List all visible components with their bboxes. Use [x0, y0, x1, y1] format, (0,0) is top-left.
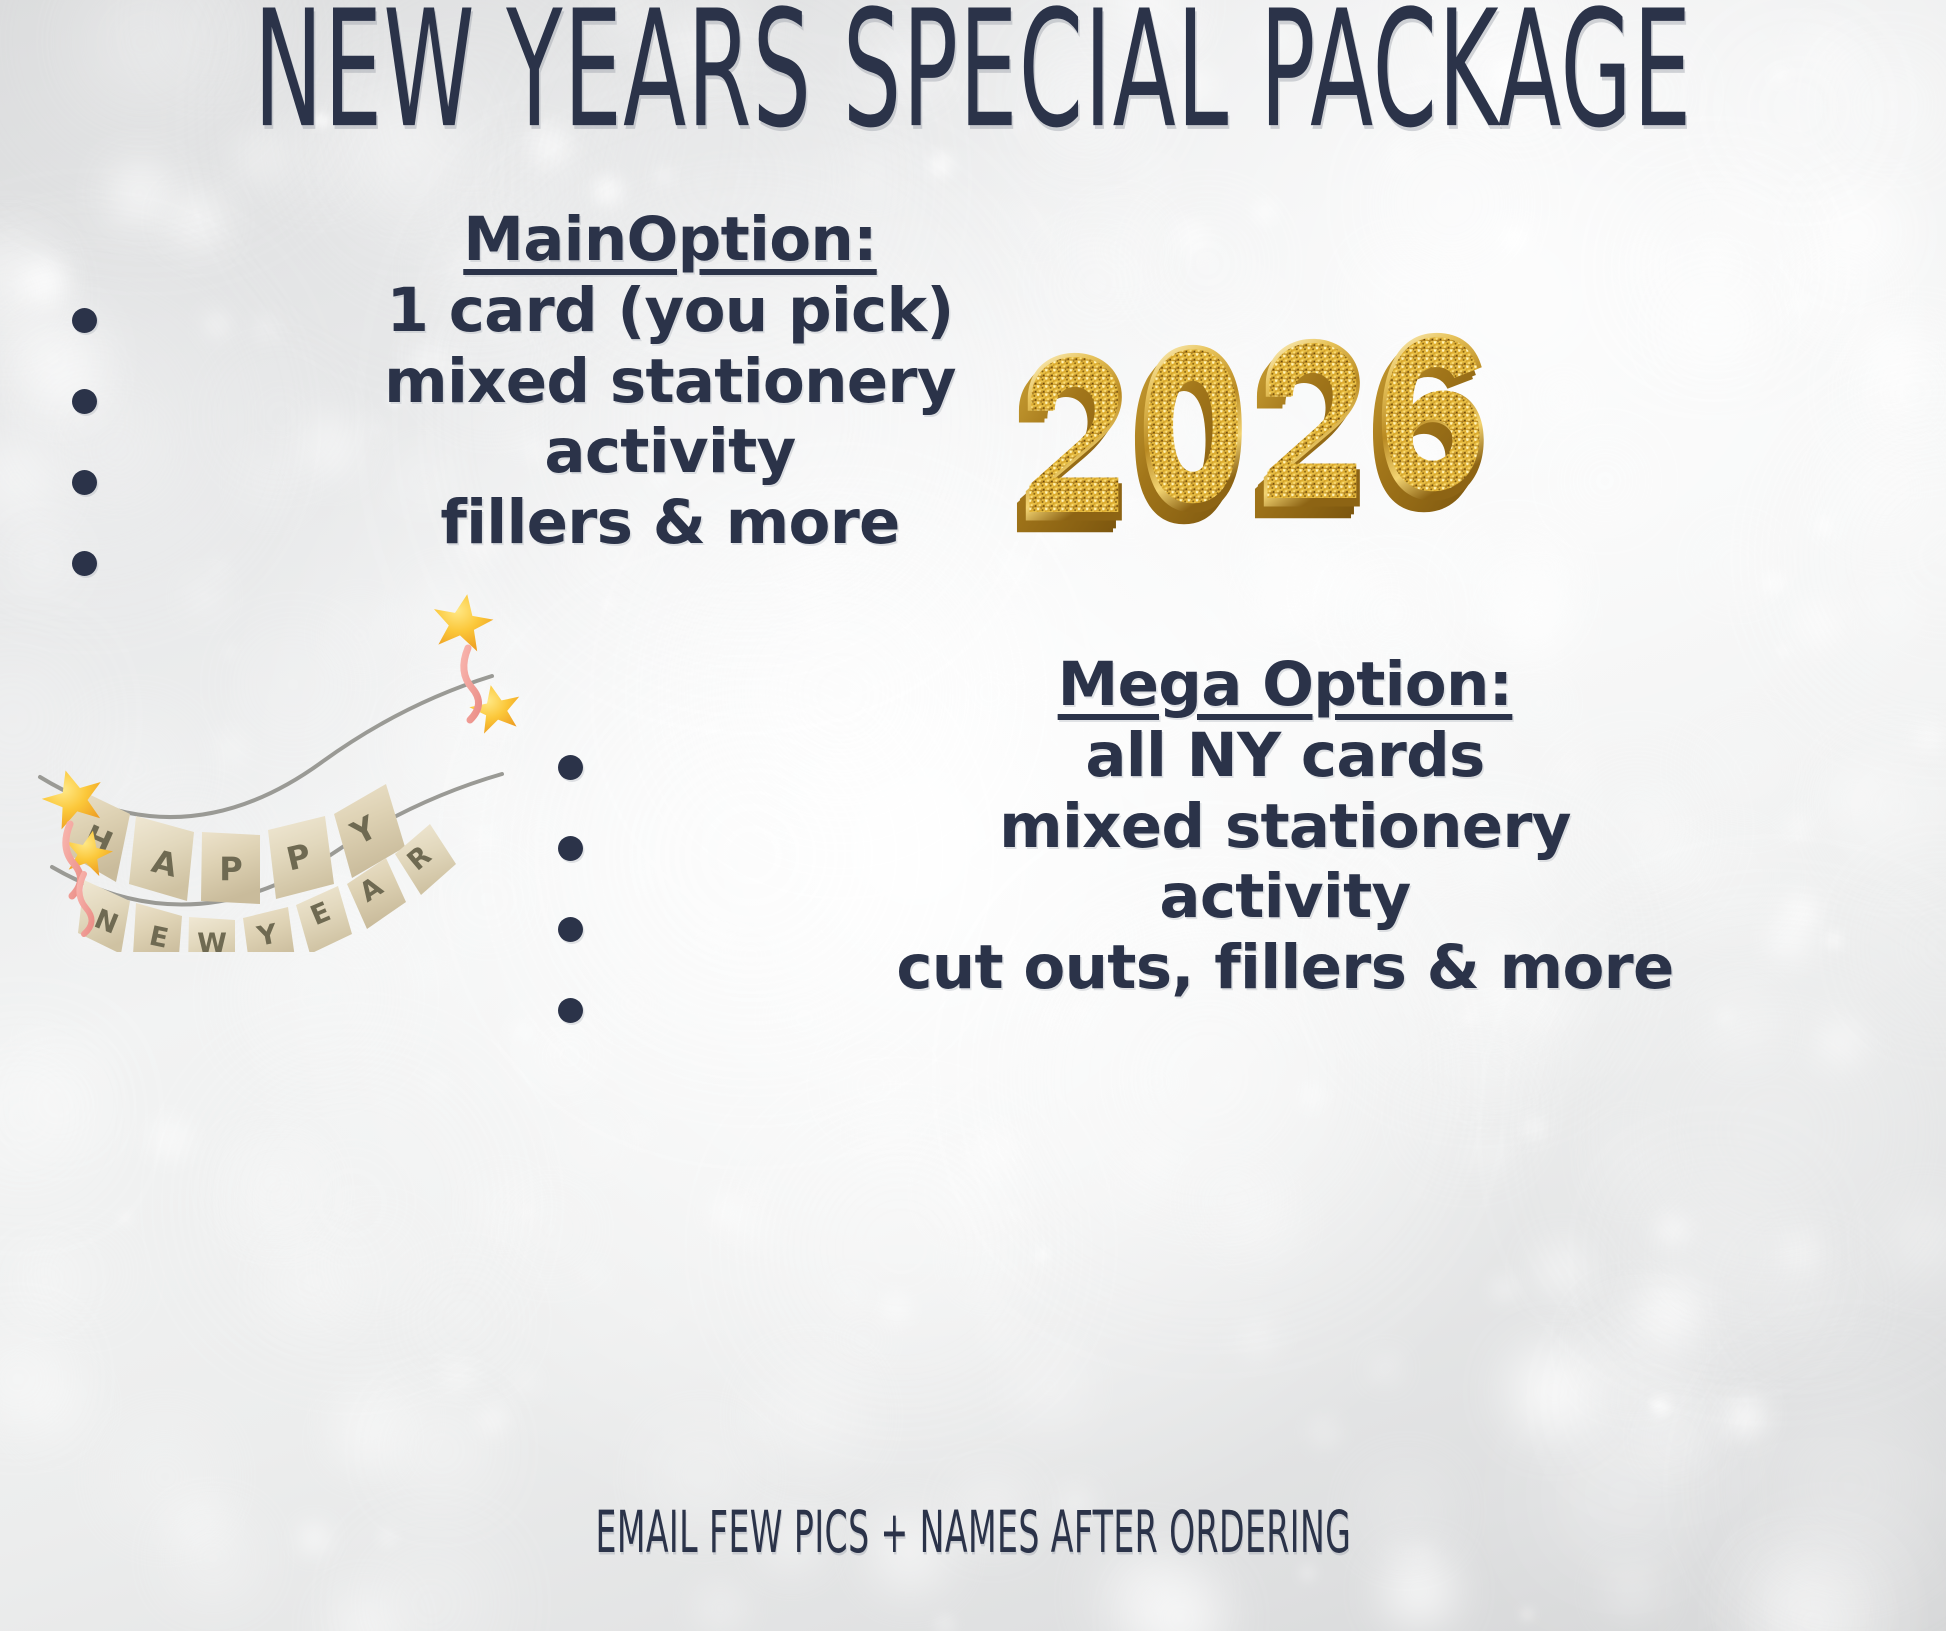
main-option-item-3: activity [300, 417, 1040, 488]
mega-option-item-3: activity [690, 862, 1880, 933]
year-digit-6 [1373, 333, 1484, 512]
banner-string-top [40, 676, 492, 817]
banner-flag-E2: E [296, 886, 352, 952]
footer-note-text: EMAIL FEW PICS + NAMES AFTER ORDERING [595, 1502, 1351, 1563]
happy-new-year-banner-graphic: H A P P Y N [22, 592, 522, 952]
banner-flag-N: N [78, 880, 130, 952]
mega-option-heading: Mega Option: [690, 650, 1880, 721]
page-title: NEW YEARS SPECIAL PACKAGE [0, 6, 1946, 137]
main-option-item-4: fillers & more [300, 488, 1040, 559]
ribbon-streamer-top [464, 648, 479, 720]
mega-option-bullet-list [558, 755, 583, 1023]
star-icon-top [428, 592, 497, 653]
page-title-text: NEW YEARS SPECIAL PACKAGE [254, 0, 1693, 154]
banner-flag-E1: E [133, 903, 182, 952]
banner-flag-P2: P [268, 816, 334, 899]
banner-flag-R: R [395, 824, 456, 895]
main-option-item-2: mixed stationery [300, 347, 1040, 418]
banner-flag-Y1: Y [334, 784, 405, 878]
banner-flag-Y2: Y [243, 907, 295, 952]
bullet-dot [558, 917, 583, 942]
mega-option-item-4: cut outs, fillers & more [690, 933, 1880, 1004]
svg-text:P: P [219, 850, 242, 888]
year-digit-2b [1255, 339, 1360, 518]
bullet-dot [72, 470, 97, 495]
main-option-heading: MainOption: [300, 205, 1040, 276]
main-option-bullet-list [72, 308, 97, 576]
banner-flag-A: A [129, 816, 194, 901]
bullet-dot [72, 389, 97, 414]
bullet-dot [558, 836, 583, 861]
bullet-dot [72, 551, 97, 576]
mega-option-block: Mega Option: all NY cards mixed statione… [690, 650, 1880, 1004]
main-option-block: MainOption: 1 card (you pick) mixed stat… [300, 205, 1040, 559]
bullet-dot [558, 755, 583, 780]
mega-option-item-1: all NY cards [690, 721, 1880, 792]
year-digit-2 [1017, 353, 1122, 532]
main-option-item-1: 1 card (you pick) [300, 276, 1040, 347]
svg-text:W: W [197, 928, 227, 952]
year-digit-0 [1135, 345, 1242, 524]
bullet-dot [72, 308, 97, 333]
banner-flag-W: W [188, 917, 235, 952]
year-2026-graphic [1012, 318, 1502, 563]
banner-flag-P1: P [201, 832, 260, 904]
mega-option-item-2: mixed stationery [690, 792, 1880, 863]
bullet-dot [558, 998, 583, 1023]
footer-note: EMAIL FEW PICS + NAMES AFTER ORDERING [0, 1508, 1946, 1556]
poster-canvas: NEW YEARS SPECIAL PACKAGE MainOption: 1 … [0, 0, 1946, 1631]
